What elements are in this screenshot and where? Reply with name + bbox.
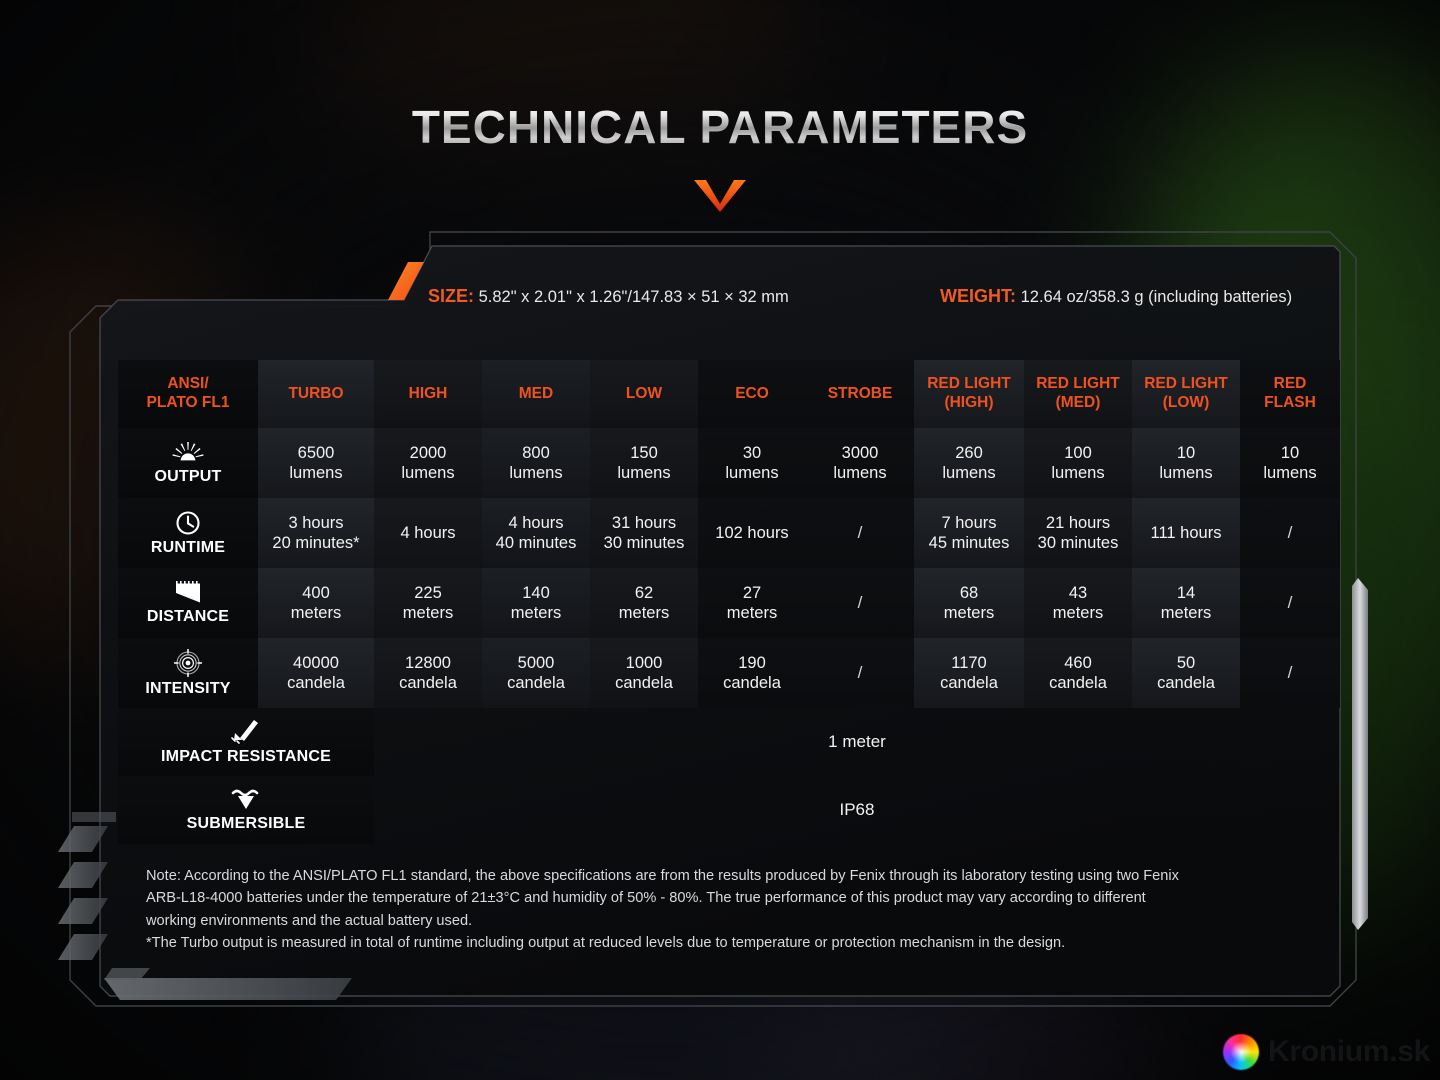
footnote-line-2: ARB-L18-4000 batteries under the tempera…: [146, 887, 1336, 909]
cell-distance-red-med: 43 meters: [1024, 568, 1132, 638]
column-header-low: LOW: [590, 360, 698, 428]
logo-text: Kronium.sk: [1268, 1035, 1430, 1069]
cell-runtime-red-low: 111 hours: [1132, 498, 1240, 568]
row-label-text: DISTANCE: [147, 608, 229, 625]
water-submersible-icon: [229, 788, 263, 812]
cell-distance-high: 225 meters: [374, 568, 482, 638]
column-header-red-flash: RED FLASH: [1240, 360, 1340, 428]
cell-distance-red-low: 14 meters: [1132, 568, 1240, 638]
cell-output-red-med: 100 lumens: [1024, 428, 1132, 498]
size-label: SIZE:: [428, 286, 474, 306]
row-label-text: IMPACT RESISTANCE: [161, 748, 331, 765]
specifications-table: ANSI/ PLATO FL1 TURBO HIGH MED LOW ECO S…: [118, 360, 1340, 844]
size-weight-line: SIZE: 5.82" x 2.01" x 1.26"/147.83 × 51 …: [428, 286, 1358, 316]
cell-distance-med: 140 meters: [482, 568, 590, 638]
cell-runtime-red-med: 21 hours 30 minutes: [1024, 498, 1132, 568]
cell-output-eco: 30 lumens: [698, 428, 806, 498]
cell-output-turbo: 6500 lumens: [258, 428, 374, 498]
rainbow-circle-icon: [1223, 1034, 1259, 1070]
cell-intensity-turbo: 40000 candela: [258, 638, 374, 708]
row-label-text: SUBMERSIBLE: [187, 815, 306, 832]
column-header-ansi: ANSI/ PLATO FL1: [118, 360, 258, 428]
row-label-text: INTENSITY: [145, 680, 230, 697]
cell-output-low: 150 lumens: [590, 428, 698, 498]
cell-output-high: 2000 lumens: [374, 428, 482, 498]
cell-distance-red-flash: /: [1240, 568, 1340, 638]
cell-output-med: 800 lumens: [482, 428, 590, 498]
table-row-submersible: SUBMERSIBLE IP68: [118, 776, 1340, 844]
footnote-line-3: working environments and the actual batt…: [146, 910, 1336, 932]
value-submersible: IP68: [374, 776, 1340, 844]
cell-distance-turbo: 400 meters: [258, 568, 374, 638]
column-header-red-light-high: RED LIGHT (HIGH): [914, 360, 1024, 428]
footnote: Note: According to the ANSI/PLATO FL1 st…: [146, 865, 1336, 954]
weight-spec: WEIGHT: 12.64 oz/358.3 g (including batt…: [940, 286, 1292, 307]
page-title: TECHNICAL PARAMETERS: [0, 100, 1440, 154]
sunburst-icon: [171, 441, 205, 465]
cell-output-red-high: 260 lumens: [914, 428, 1024, 498]
cell-intensity-high: 12800 candela: [374, 638, 482, 708]
column-header-strobe: STROBE: [806, 360, 914, 428]
cell-distance-red-high: 68 meters: [914, 568, 1024, 638]
size-spec: SIZE: 5.82" x 2.01" x 1.26"/147.83 × 51 …: [428, 286, 789, 307]
value-impact-resistance: 1 meter: [374, 708, 1340, 776]
table-header-row: ANSI/ PLATO FL1 TURBO HIGH MED LOW ECO S…: [118, 360, 1340, 428]
cell-intensity-strobe: /: [806, 638, 914, 708]
size-value: 5.82" x 2.01" x 1.26"/147.83 × 51 × 32 m…: [479, 288, 789, 306]
table-row-distance: DISTANCE 400 meters 225 meters 140 meter…: [118, 568, 1340, 638]
chevron-down-icon: [692, 178, 748, 214]
footnote-line-4: *The Turbo output is measured in total o…: [146, 932, 1336, 954]
cell-distance-low: 62 meters: [590, 568, 698, 638]
weight-label: WEIGHT:: [940, 286, 1016, 306]
column-header-high: HIGH: [374, 360, 482, 428]
row-label-submersible: SUBMERSIBLE: [118, 776, 374, 844]
cell-intensity-med: 5000 candela: [482, 638, 590, 708]
cell-intensity-red-high: 1170 candela: [914, 638, 1024, 708]
cell-runtime-turbo: 3 hours 20 minutes*: [258, 498, 374, 568]
cell-intensity-low: 1000 candela: [590, 638, 698, 708]
target-intensity-icon: [174, 649, 202, 677]
row-label-runtime: RUNTIME: [118, 498, 258, 568]
cell-runtime-strobe: /: [806, 498, 914, 568]
row-label-impact-resistance: IMPACT RESISTANCE: [118, 708, 374, 776]
table-row-intensity: INTENSITY 40000 candela 12800 candela 50…: [118, 638, 1340, 708]
cell-intensity-red-flash: /: [1240, 638, 1340, 708]
cell-runtime-red-high: 7 hours 45 minutes: [914, 498, 1024, 568]
cell-runtime-low: 31 hours 30 minutes: [590, 498, 698, 568]
clock-icon: [175, 510, 201, 536]
cell-output-red-low: 10 lumens: [1132, 428, 1240, 498]
column-header-eco: ECO: [698, 360, 806, 428]
cell-output-red-flash: 10 lumens: [1240, 428, 1340, 498]
footnote-line-1: Note: According to the ANSI/PLATO FL1 st…: [146, 865, 1336, 887]
cell-runtime-eco: 102 hours: [698, 498, 806, 568]
cell-intensity-red-low: 50 candela: [1132, 638, 1240, 708]
column-header-red-light-med: RED LIGHT (MED): [1024, 360, 1132, 428]
cell-distance-eco: 27 meters: [698, 568, 806, 638]
row-label-output: OUTPUT: [118, 428, 258, 498]
weight-value: 12.64 oz/358.3 g (including batteries): [1021, 288, 1293, 306]
cell-runtime-high: 4 hours: [374, 498, 482, 568]
row-label-intensity: INTENSITY: [118, 638, 258, 708]
table-row-impact-resistance: IMPACT RESISTANCE 1 meter: [118, 708, 1340, 776]
screenshot-root: TECHNICAL PARAMETERS: [0, 0, 1440, 1080]
cell-intensity-red-med: 460 candela: [1024, 638, 1132, 708]
kronium-logo[interactable]: Kronium.sk: [1223, 1034, 1430, 1070]
cell-output-strobe: 3000 lumens: [806, 428, 914, 498]
cell-runtime-med: 4 hours 40 minutes: [482, 498, 590, 568]
row-label-distance: DISTANCE: [118, 568, 258, 638]
row-label-text: OUTPUT: [155, 468, 222, 485]
column-header-med: MED: [482, 360, 590, 428]
table-row-output: OUTPUT 6500 lumens 2000 lumens 800 lumen…: [118, 428, 1340, 498]
spec-panel: SIZE: 5.82" x 2.01" x 1.26"/147.83 × 51 …: [118, 300, 1340, 1000]
impact-drop-icon: [231, 719, 261, 745]
cell-distance-strobe: /: [806, 568, 914, 638]
beam-distance-icon: [170, 581, 206, 605]
cell-intensity-eco: 190 candela: [698, 638, 806, 708]
table-row-runtime: RUNTIME 3 hours 20 minutes* 4 hours 4 ho…: [118, 498, 1340, 568]
row-label-text: RUNTIME: [151, 539, 225, 556]
column-header-red-light-low: RED LIGHT (LOW): [1132, 360, 1240, 428]
column-header-turbo: TURBO: [258, 360, 374, 428]
cell-runtime-red-flash: /: [1240, 498, 1340, 568]
